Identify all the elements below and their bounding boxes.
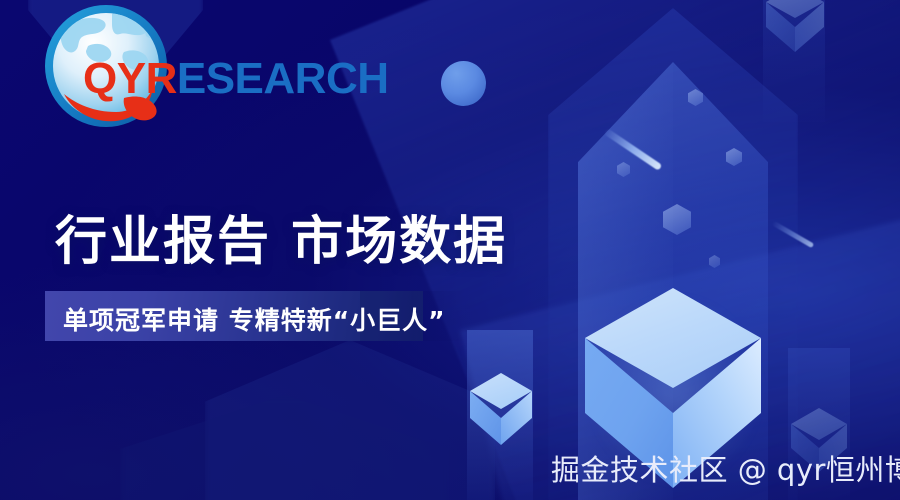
logo-wordmark-primary: QYR [83, 54, 177, 103]
promo-banner: QYRESEARCH 行业报告 市场数据 单项冠军申请 专精特新“小巨人” 掘金… [0, 0, 900, 500]
watermark-credit: 掘金技术社区 @ qyr恒州博智 [551, 447, 900, 489]
subtitle-text: 单项冠军申请 专精特新“小巨人” [63, 301, 446, 337]
isometric-cube-small-icon [470, 373, 532, 445]
logo-wordmark-secondary: ESEARCH [177, 54, 389, 103]
sphere-decoration [441, 61, 486, 106]
brand-logo: QYRESEARCH [28, 2, 378, 134]
logo-wordmark: QYRESEARCH [83, 54, 389, 104]
page-title: 行业报告 市场数据 [55, 199, 507, 274]
isometric-cube-top-right-icon [766, 0, 824, 52]
